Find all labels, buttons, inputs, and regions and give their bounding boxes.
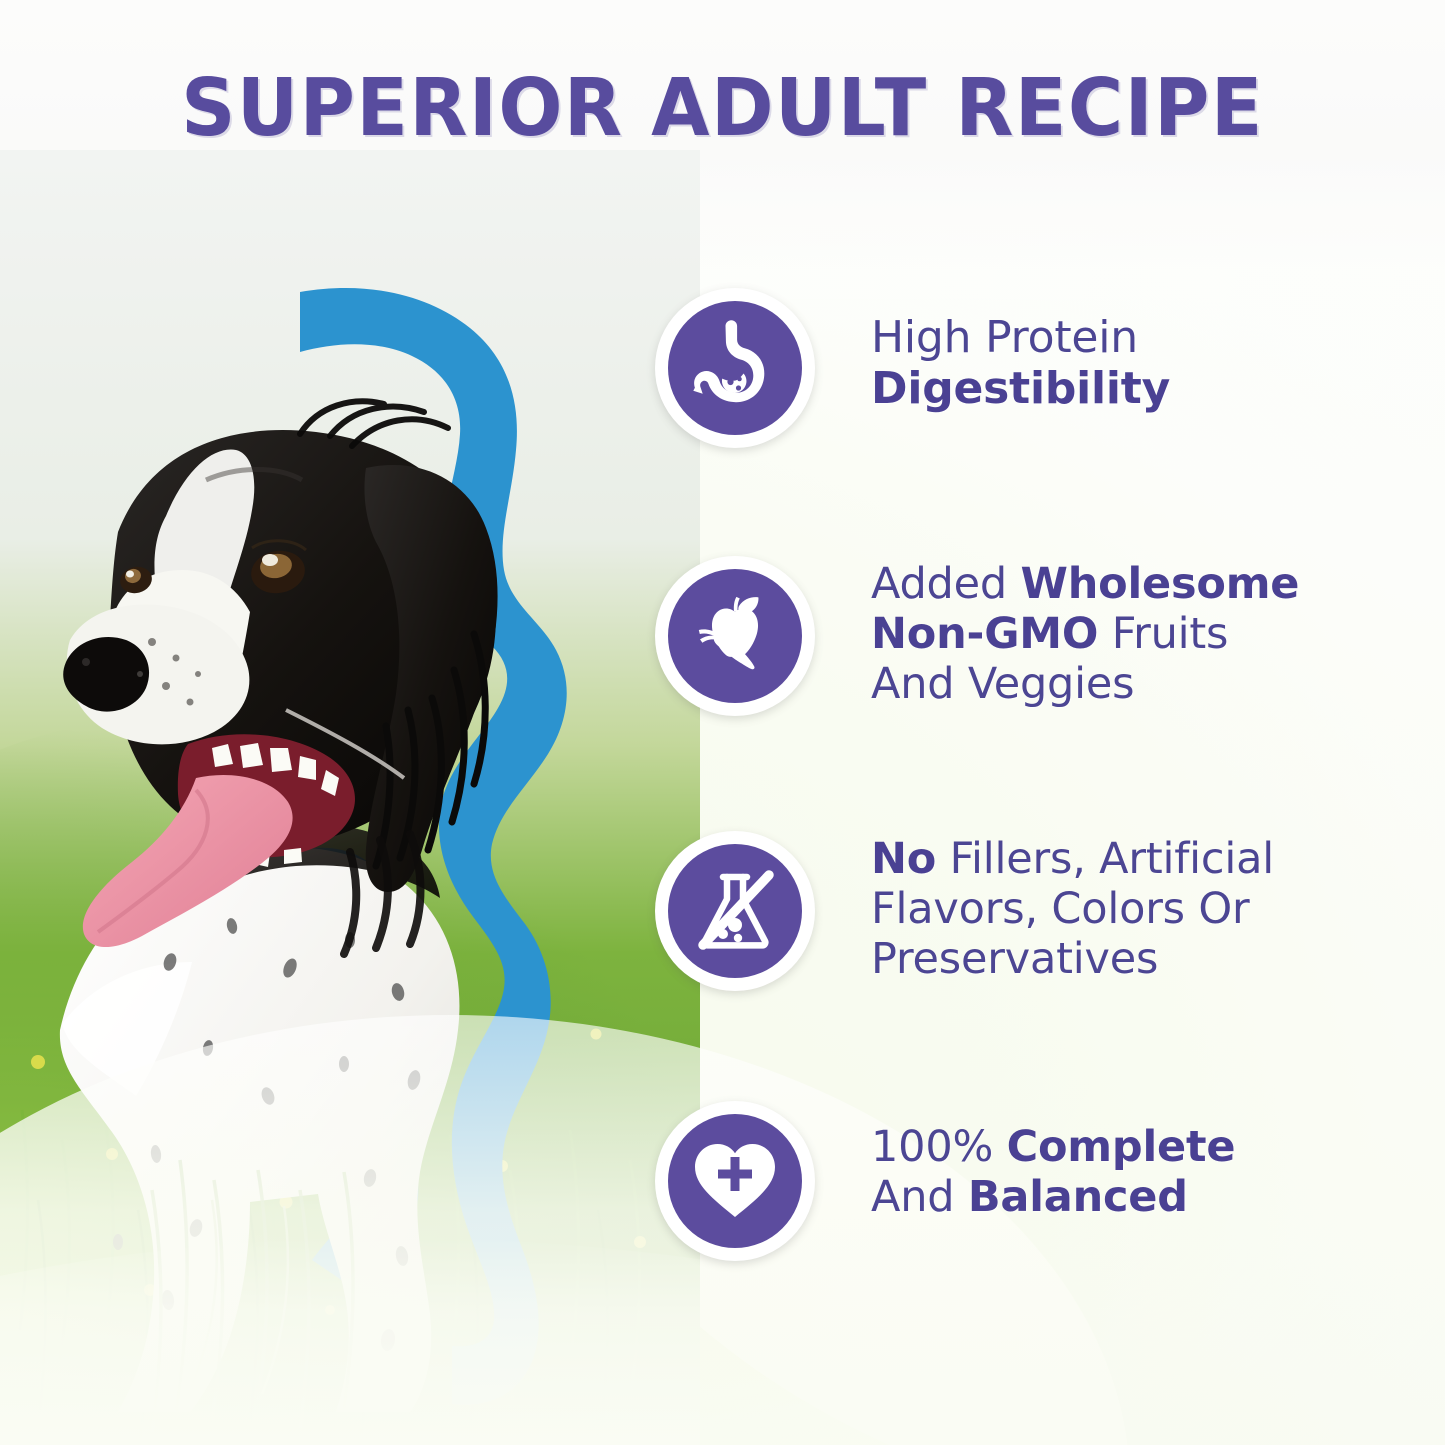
page-title: SUPERIOR ADULT RECIPE [33,62,1413,154]
feature-item-fruits-veggies: Added Wholesome Non-GMO Fruits And Veggi… [655,556,1299,716]
fruits-veggies-icon [685,586,785,686]
feature-badge [655,556,815,716]
feature-badge [655,1101,815,1261]
feature-item-complete-balanced: 100% Complete And Balanced [655,1101,1235,1261]
feature-line: Non-GMO Fruits [871,610,1299,660]
feature-line: Added Wholesome [871,560,1299,610]
stomach-icon [683,316,787,420]
feature-line: No Fillers, Artificial [871,835,1274,885]
product-benefits-infographic: SUPERIOR ADULT RECIPE High Protein Diges [0,0,1445,1445]
feature-text: 100% Complete And Balanced [871,1101,1235,1223]
feature-item-digestibility: High Protein Digestibility [655,288,1170,448]
heart-plus-icon [685,1131,785,1231]
feature-line: Digestibility [871,363,1170,414]
feature-item-no-fillers: No Fillers, Artificial Flavors, Colors O… [655,831,1274,991]
feature-badge [655,288,815,448]
feature-text: No Fillers, Artificial Flavors, Colors O… [871,831,1274,985]
feature-line: High Protein [871,312,1170,363]
feature-text: High Protein Digestibility [871,288,1170,414]
no-chemicals-flask-icon [679,855,791,967]
feature-text: Added Wholesome Non-GMO Fruits And Veggi… [871,556,1299,710]
feature-line: Preservatives [871,935,1274,985]
feature-line: Flavors, Colors Or [871,885,1274,935]
feature-line: 100% Complete [871,1123,1235,1173]
feature-badge [655,831,815,991]
feature-line: And Balanced [871,1173,1235,1223]
feature-line: And Veggies [871,660,1299,710]
